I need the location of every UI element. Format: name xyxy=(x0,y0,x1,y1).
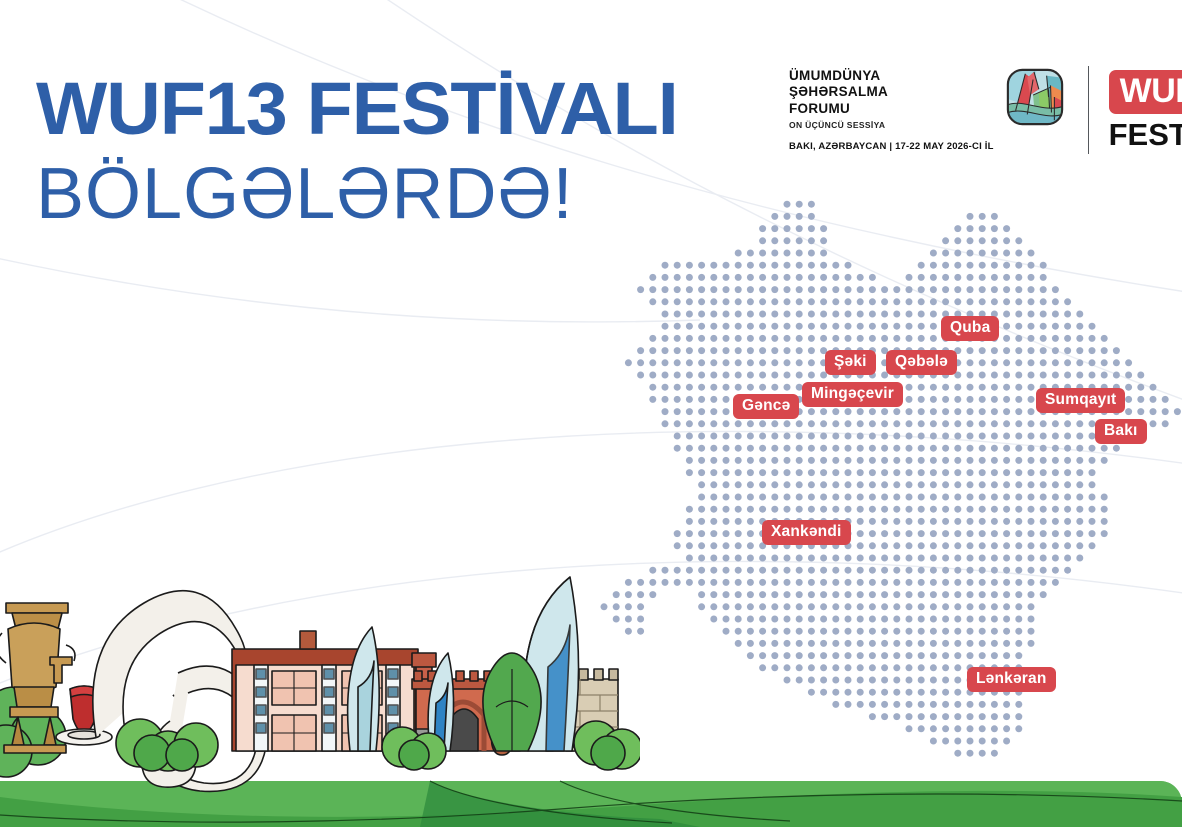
azerbaijan-dotted-map: QubaŞəkiQəbələMingəçevirGəncəSumqayıtBak… xyxy=(598,186,1182,764)
city-label-şəki[interactable]: Şəki xyxy=(825,350,876,375)
city-label-quba[interactable]: Quba xyxy=(941,316,999,341)
forum-identity: ÜMUMDÜNYA ŞƏHƏRSALMA FORUMU ON ÜÇÜNCÜ SE… xyxy=(789,64,1066,152)
forum-name-line-2: ŞƏHƏRSALMA xyxy=(789,84,994,100)
forum-venue-date: BAKI, AZƏRBAYCAN | 17-22 MAY 2026-CI İL xyxy=(789,141,994,152)
city-label-qəbələ[interactable]: Qəbələ xyxy=(886,350,957,375)
city-label-xankəndi[interactable]: Xankəndi xyxy=(762,520,851,545)
poster-canvas: WUF13 FESTİVALI BÖLGƏLƏRDƏ! ÜMUMDÜNYA ŞƏ… xyxy=(0,0,1182,827)
logo-divider xyxy=(1088,66,1089,154)
headline-line-2: BÖLGƏLƏRDƏ! xyxy=(36,160,665,228)
festival-word: FESTİVALI xyxy=(1109,118,1182,152)
map-dots xyxy=(598,186,1182,764)
wuf13-badge: WUF13 xyxy=(1109,70,1182,114)
headline-block: WUF13 FESTİVALI BÖLGƏLƏRDƏ! xyxy=(36,74,665,229)
city-label-lənkəran[interactable]: Lənkəran xyxy=(967,667,1056,692)
forum-wordmark: ÜMUMDÜNYA ŞƏHƏRSALMA FORUMU ON ÜÇÜNCÜ SE… xyxy=(789,64,994,152)
wuf-cube-mark-icon xyxy=(1004,66,1066,128)
city-label-bakı[interactable]: Bakı xyxy=(1095,419,1147,444)
city-label-mingəçevir[interactable]: Mingəçevir xyxy=(802,382,903,407)
city-label-gəncə[interactable]: Gəncə xyxy=(733,394,799,419)
forum-name-line-1: ÜMUMDÜNYA xyxy=(789,68,994,84)
festival-badge-block: WUF13 FESTİVALI xyxy=(1109,64,1182,152)
forum-name-line-3: FORUMU xyxy=(789,101,994,117)
landmarks-illustration xyxy=(0,537,640,827)
headline-line-1: WUF13 FESTİVALI xyxy=(36,74,678,144)
forum-session-label: ON ÜÇÜNCÜ SESSİYA xyxy=(789,120,994,130)
logo-lockup[interactable]: ÜMUMDÜNYA ŞƏHƏRSALMA FORUMU ON ÜÇÜNCÜ SE… xyxy=(789,62,1182,154)
city-label-sumqayıt[interactable]: Sumqayıt xyxy=(1036,388,1125,413)
